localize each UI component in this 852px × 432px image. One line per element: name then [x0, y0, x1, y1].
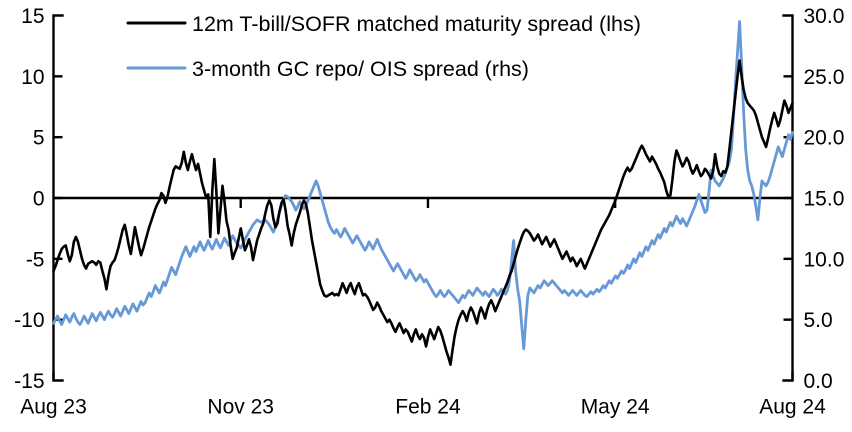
chart-container: 151050-5-10-15 30.025.020.015.010.05.00.… — [0, 0, 852, 432]
x-axis-tick-labels: Aug 23Nov 23Feb 24May 24Aug 24 — [20, 396, 826, 419]
left-tick-label: 0 — [33, 188, 45, 211]
x-tick-label: Nov 23 — [207, 396, 274, 419]
right-tick-label: 5.0 — [804, 309, 833, 332]
left-tick-label: -10 — [14, 309, 44, 332]
right-tick-label: 15.0 — [804, 188, 845, 211]
right-tick-label: 30.0 — [804, 5, 845, 28]
left-tick-label: -15 — [14, 370, 44, 393]
right-tick-label: 25.0 — [804, 66, 845, 89]
x-tick-label: May 24 — [581, 396, 650, 419]
x-tick-label: Aug 24 — [759, 396, 826, 419]
left-tick-label: 5 — [33, 127, 45, 150]
x-tick-label: Aug 23 — [20, 396, 87, 419]
x-axis-ticks — [54, 198, 793, 381]
x-axis: Aug 23Nov 23Feb 24May 24Aug 24 — [20, 198, 826, 419]
right-tick-label: 10.0 — [804, 248, 845, 271]
series-line-tbill-sofr-spread — [54, 61, 793, 365]
legend-label-gc-repo-ois: 3-month GC repo/ OIS spread (rhs) — [192, 57, 529, 81]
left-tick-label: 10 — [21, 66, 44, 89]
left-axis-tick-labels: 151050-5-10-15 — [14, 5, 44, 393]
chart-legend: 12m T-bill/SOFR matched maturity spread … — [128, 12, 641, 81]
right-axis-tick-labels: 30.025.020.015.010.05.00.0 — [804, 5, 845, 393]
left-tick-label: 15 — [21, 5, 44, 28]
x-tick-label: Feb 24 — [395, 396, 461, 419]
legend-label-tbill-sofr: 12m T-bill/SOFR matched maturity spread … — [192, 12, 641, 36]
right-tick-label: 0.0 — [804, 370, 833, 393]
left-tick-label: -5 — [26, 248, 45, 271]
right-axis: 30.025.020.015.010.05.00.0 — [784, 5, 845, 393]
line-chart: 151050-5-10-15 30.025.020.015.010.05.00.… — [0, 0, 852, 432]
right-tick-label: 20.0 — [804, 127, 845, 150]
